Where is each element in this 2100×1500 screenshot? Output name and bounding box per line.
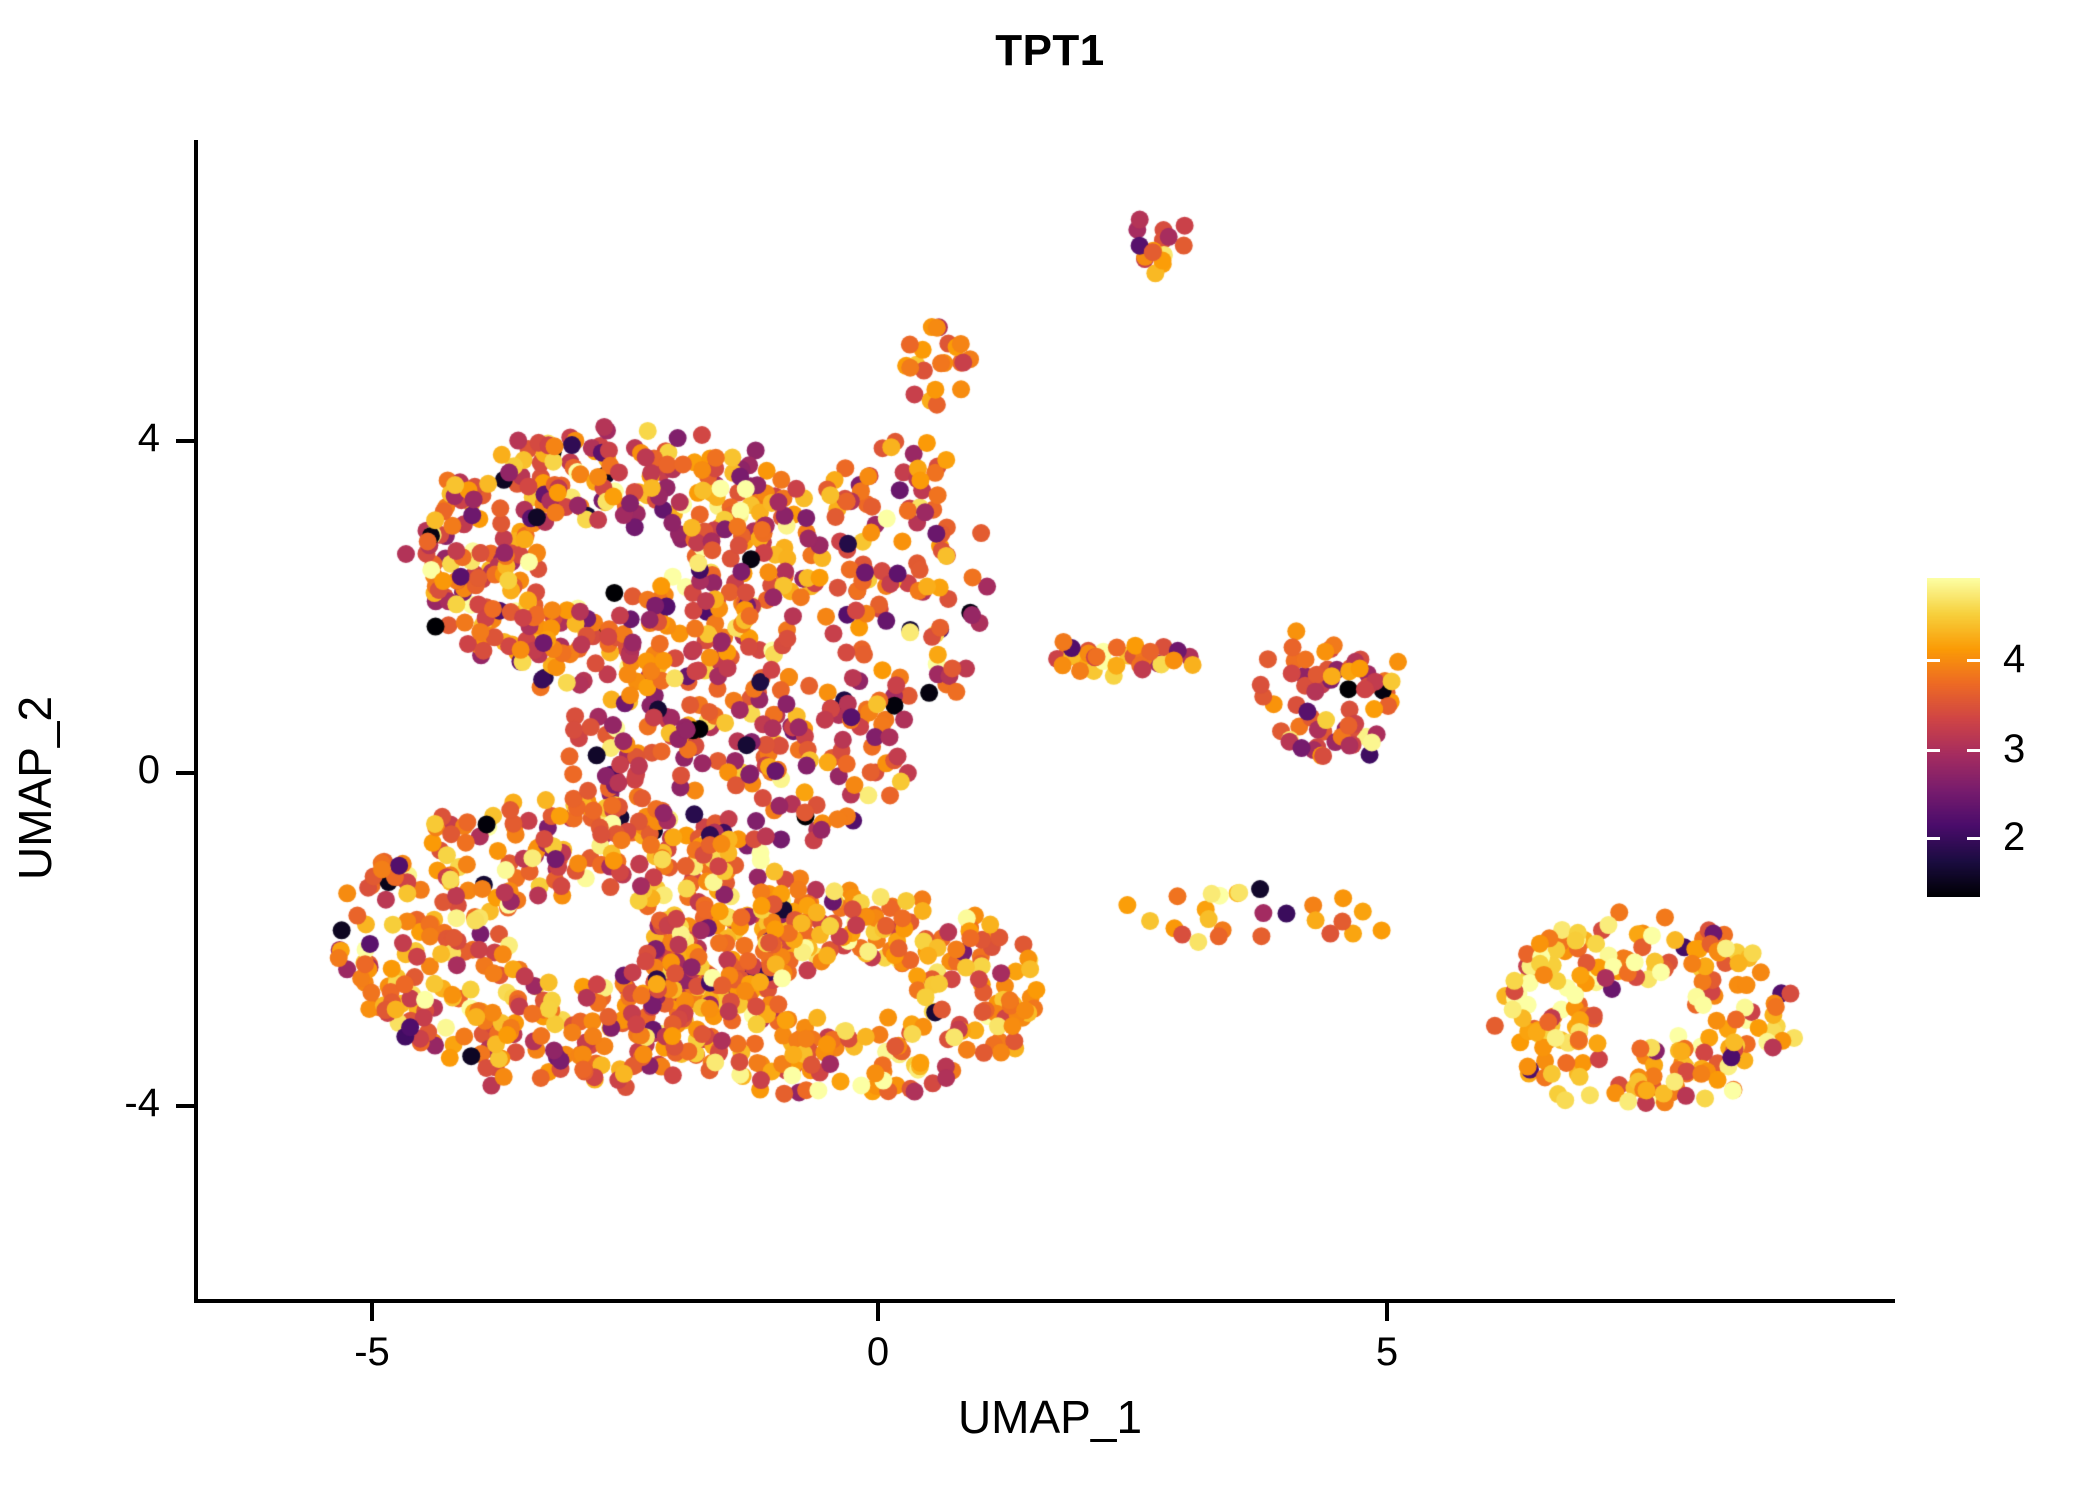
colorbar-tick-3-left xyxy=(1927,749,1940,752)
x-tick-label-5: 5 xyxy=(1317,1330,1457,1375)
x-axis-title: UMAP_1 xyxy=(0,1390,2100,1444)
x-axis-line xyxy=(194,1299,1895,1303)
y-tick-mark-0 xyxy=(176,771,194,775)
colorbar-tick-3-right xyxy=(1967,749,1980,752)
umap-feature-plot: TPT1 4 0 -4 -5 0 5 UMAP_1 UMAP_2 4 3 2 xyxy=(0,0,2100,1500)
x-tick-mark-5 xyxy=(1385,1303,1389,1321)
colorbar-label-2: 2 xyxy=(2003,815,2025,860)
y-axis-title: UMAP_2 xyxy=(8,696,62,880)
y-tick-mark-minus4 xyxy=(176,1104,194,1108)
colorbar-tick-2-right xyxy=(1967,837,1980,840)
colorbar-tick-2-left xyxy=(1927,837,1940,840)
x-tick-mark-0 xyxy=(876,1303,880,1321)
y-tick-label-0: 0 xyxy=(80,748,160,793)
colorbar-tick-4-right xyxy=(1967,659,1980,662)
y-tick-label-minus4: -4 xyxy=(60,1081,160,1126)
colorbar-label-4: 4 xyxy=(2003,637,2025,682)
colorbar-gradient xyxy=(1927,578,1980,897)
colorbar-label-3: 3 xyxy=(2003,727,2025,772)
y-tick-mark-4 xyxy=(176,439,194,443)
y-axis-line xyxy=(194,140,198,1303)
x-tick-label-0: 0 xyxy=(808,1330,948,1375)
x-tick-mark-minus5 xyxy=(370,1303,374,1321)
scatter-plot-canvas xyxy=(0,0,2100,1500)
y-tick-label-4: 4 xyxy=(80,416,160,461)
scatter-canvas-holder xyxy=(0,0,2100,1500)
colorbar-tick-4-left xyxy=(1927,659,1940,662)
colorbar-legend xyxy=(1927,578,1980,897)
x-tick-label-minus5: -5 xyxy=(302,1330,442,1375)
